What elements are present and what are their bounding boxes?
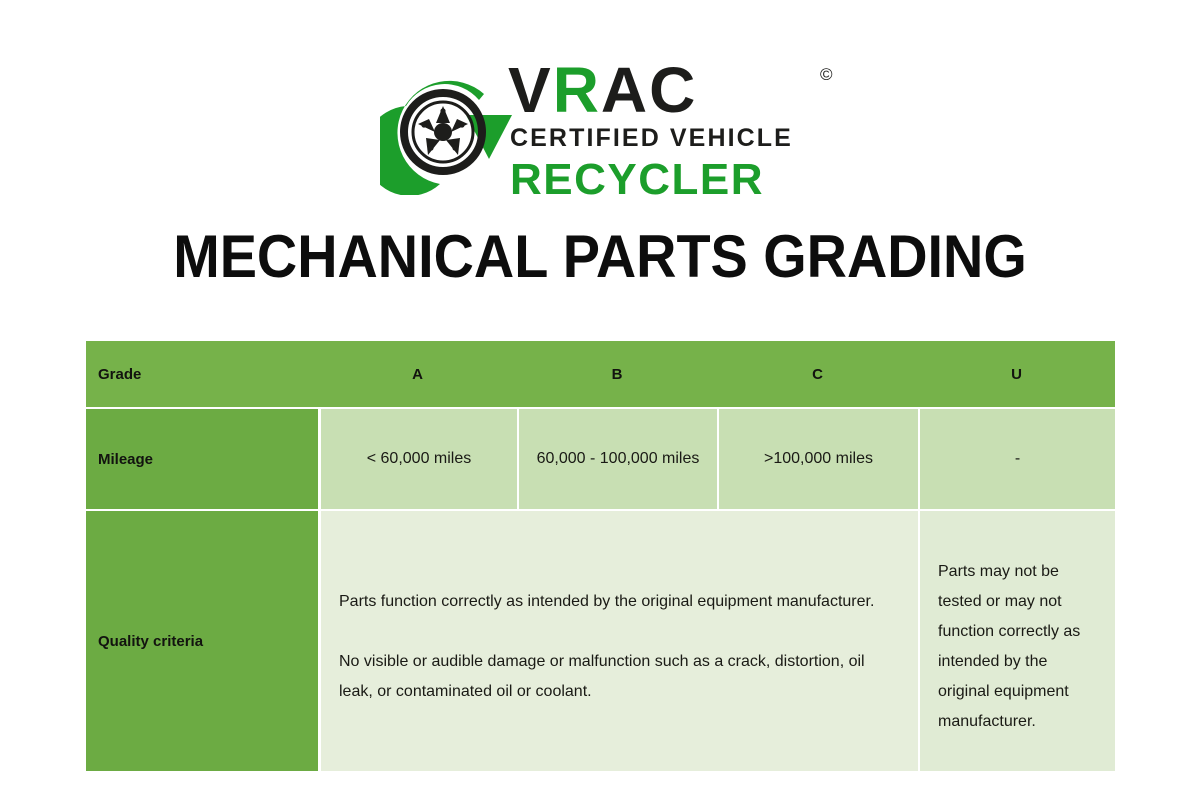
cell-mileage-u: - — [918, 409, 1115, 509]
logo-letter-r: R — [553, 54, 601, 126]
logo-subbrand: RECYCLER — [510, 155, 764, 205]
logo-letter-v: V — [508, 54, 553, 126]
page-title: MECHANICAL PARTS GRADING — [42, 222, 1158, 292]
row-label-quality-criteria: Quality criteria — [86, 511, 318, 771]
column-header-grade: Grade — [86, 341, 318, 407]
cell-quality-criteria-u: Parts may not be tested or may not funct… — [918, 511, 1115, 771]
logo-brand-text: VRAC — [508, 57, 697, 123]
wheel-recycle-arrow-icon — [380, 60, 515, 195]
cell-mileage-c: >100,000 miles — [717, 409, 918, 509]
column-header-c: C — [717, 341, 918, 407]
column-header-b: B — [517, 341, 717, 407]
column-header-a: A — [318, 341, 517, 407]
mechanical-parts-grading-table: Grade A B C U Mileage < 60,000 miles 60,… — [86, 341, 1115, 771]
table-row-mileage: Mileage < 60,000 miles 60,000 - 100,000 … — [86, 409, 1115, 509]
column-header-u: U — [918, 341, 1115, 407]
vrac-logo: VRAC © CERTIFIED VEHICLE RECYCLER — [380, 55, 840, 205]
table-row-quality-criteria: Quality criteria Parts function correctl… — [86, 511, 1115, 771]
cell-quality-criteria-abc: Parts function correctly as intended by … — [318, 511, 918, 771]
logo-wordmark: VRAC © CERTIFIED VEHICLE RECYCLER — [508, 55, 843, 205]
logo-letter-a: A — [601, 54, 649, 126]
quality-criteria-paragraph-2: No visible or audible damage or malfunct… — [339, 647, 900, 707]
row-label-mileage: Mileage — [86, 409, 318, 509]
logo-letter-c: C — [649, 54, 697, 126]
cell-mileage-a: < 60,000 miles — [318, 409, 517, 509]
cell-mileage-b: 60,000 - 100,000 miles — [517, 409, 717, 509]
logo-tagline: CERTIFIED VEHICLE — [510, 124, 793, 153]
quality-criteria-paragraph-1: Parts function correctly as intended by … — [339, 587, 900, 617]
copyright-icon: © — [820, 65, 833, 85]
table-header-row: Grade A B C U — [86, 341, 1115, 407]
